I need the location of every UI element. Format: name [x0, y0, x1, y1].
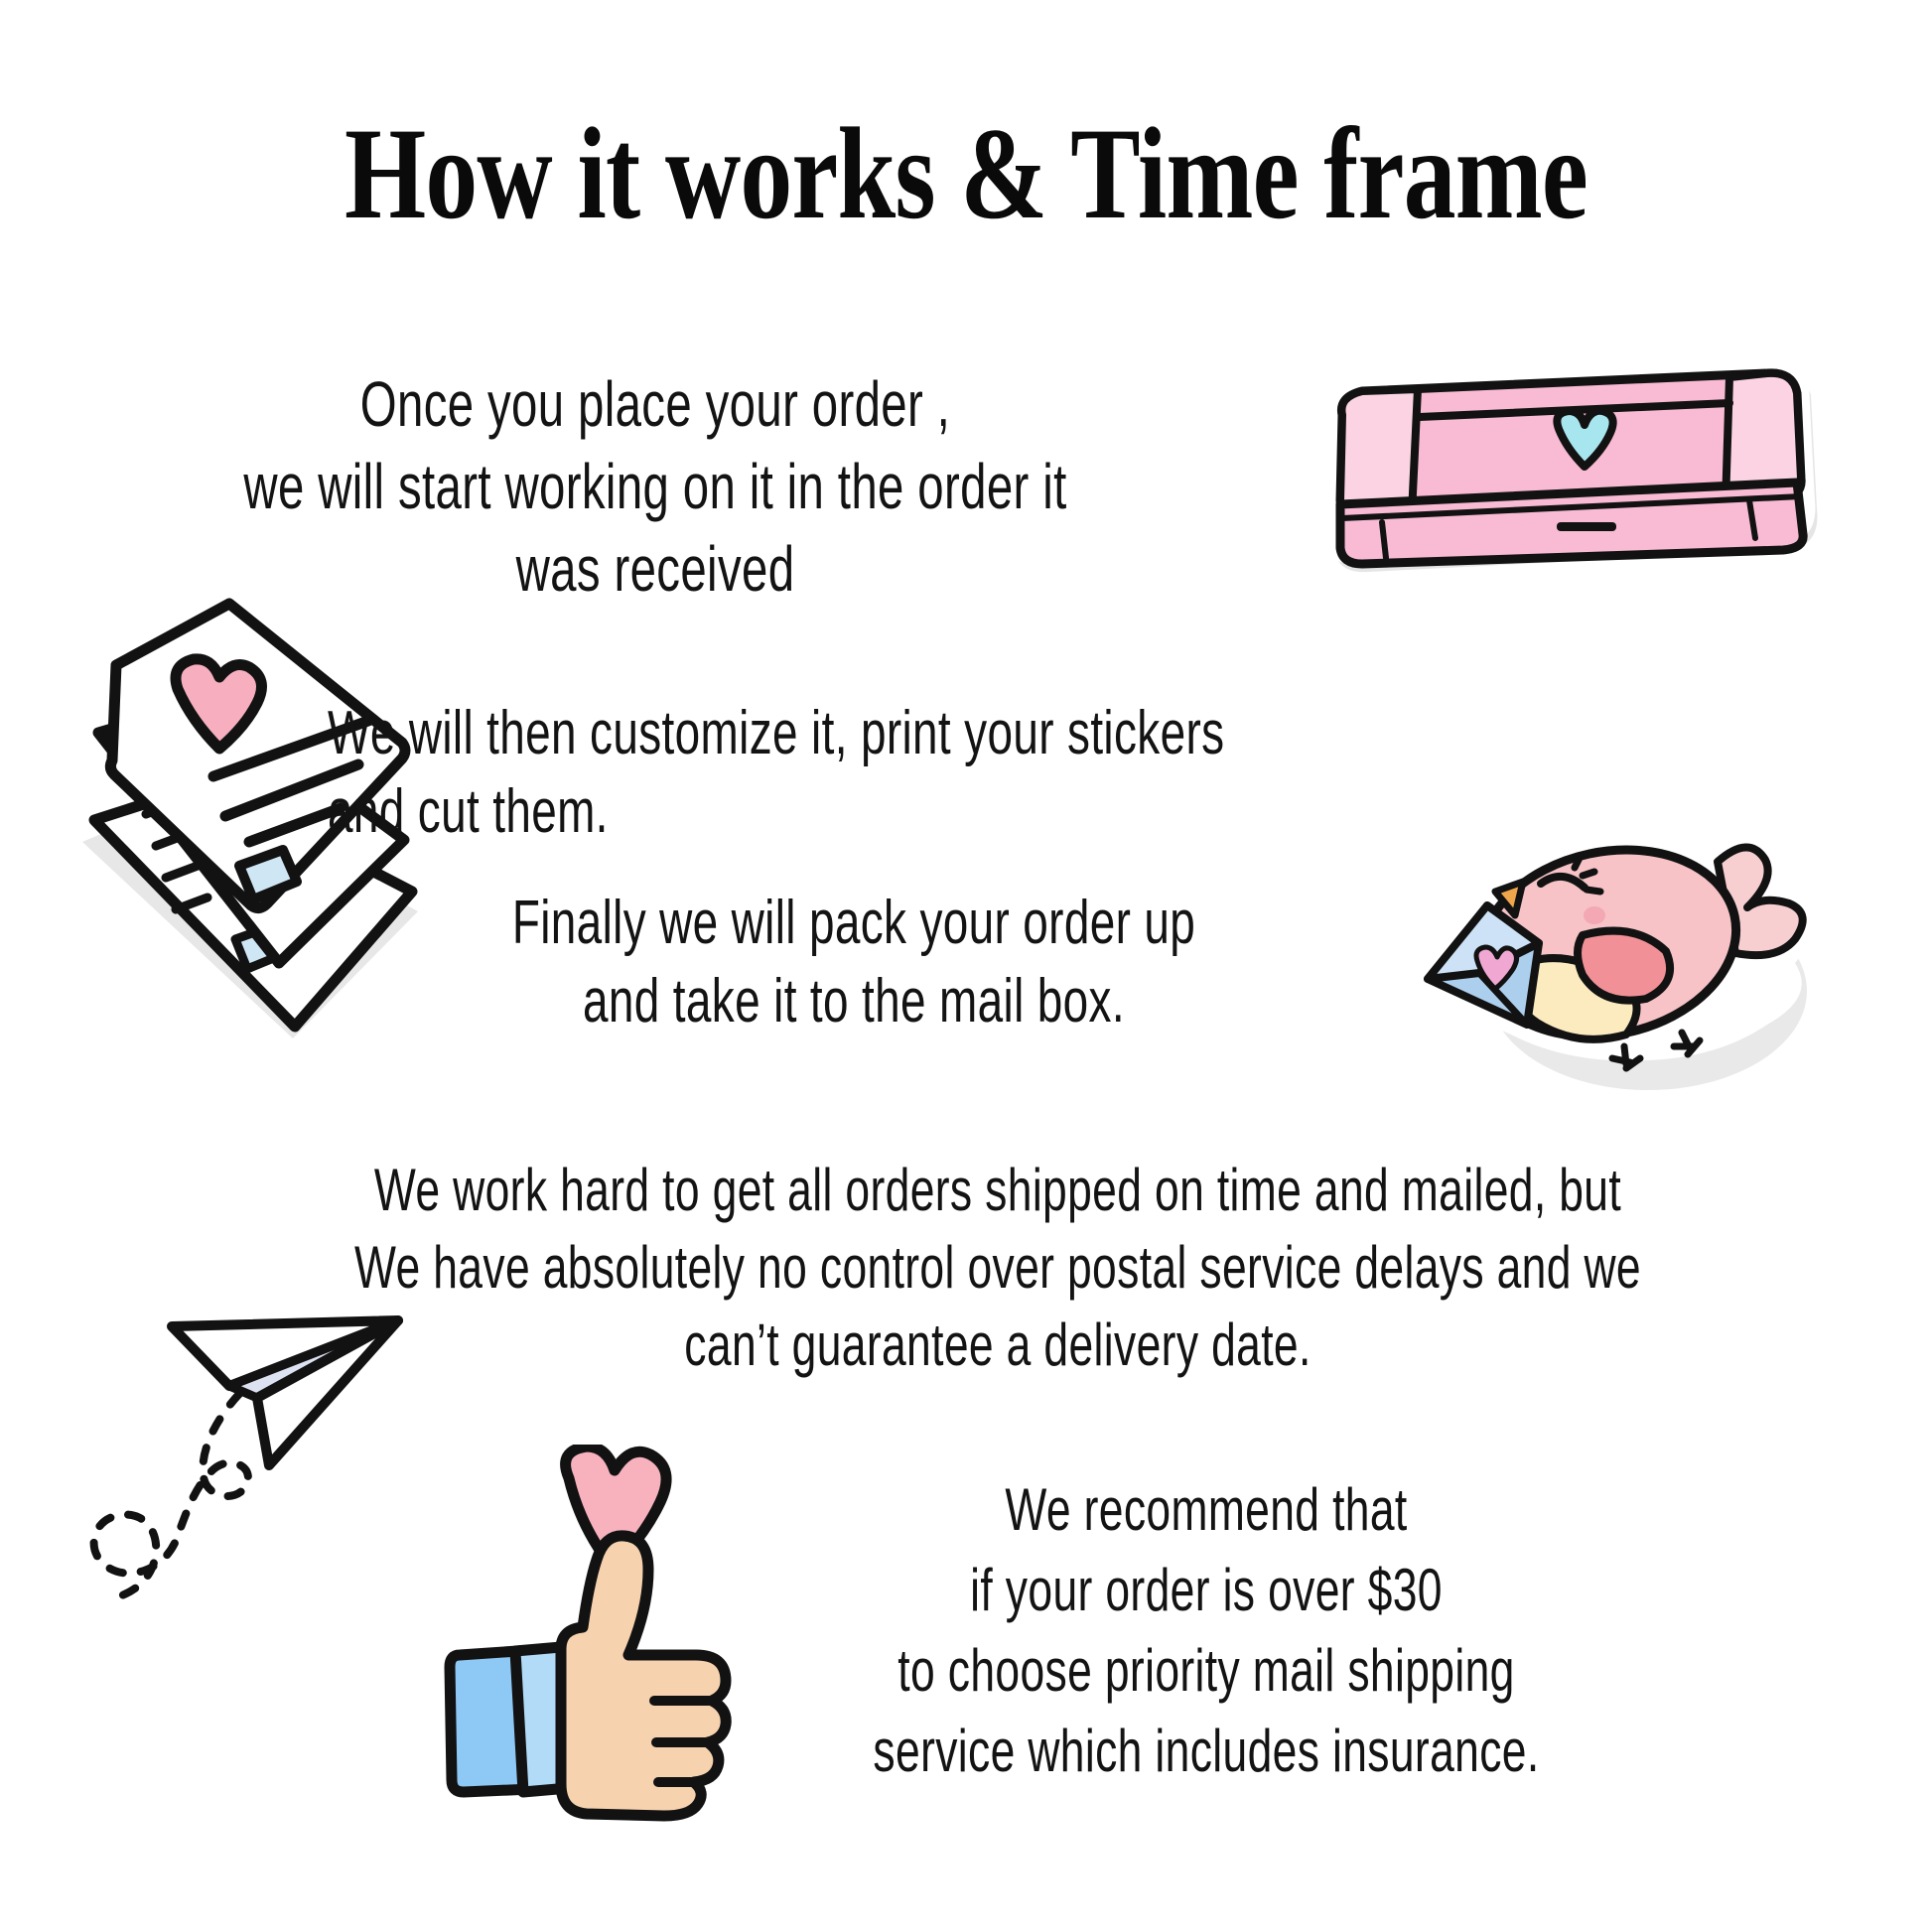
bird-cheek — [1584, 906, 1605, 924]
thumbs-up-icon — [412, 1445, 759, 1842]
recommendation-paragraph: We recommend that if your order is over … — [828, 1469, 1585, 1791]
customize-paragraph: We will then customize it, print your st… — [328, 695, 1239, 851]
shipping-disclaimer-paragraph: We work hard to get all orders shipped o… — [341, 1152, 1656, 1384]
paper-airplane-icon — [55, 1303, 412, 1650]
printer-icon — [1309, 359, 1845, 588]
thumb-hand — [561, 1536, 726, 1816]
page-title: How it works & Time frame — [194, 107, 1739, 241]
bird-with-envelope-icon — [1420, 812, 1837, 1100]
printer-slot — [1557, 522, 1616, 531]
bird-mouth — [1578, 931, 1670, 1001]
pack-paragraph: Finally we will pack your order up and t… — [465, 884, 1243, 1041]
intro-paragraph: Once you place your order , we will star… — [214, 363, 1096, 612]
poster-canvas: How it works & Time frame Once you place… — [0, 0, 1932, 1932]
plane-trail — [94, 1394, 248, 1598]
